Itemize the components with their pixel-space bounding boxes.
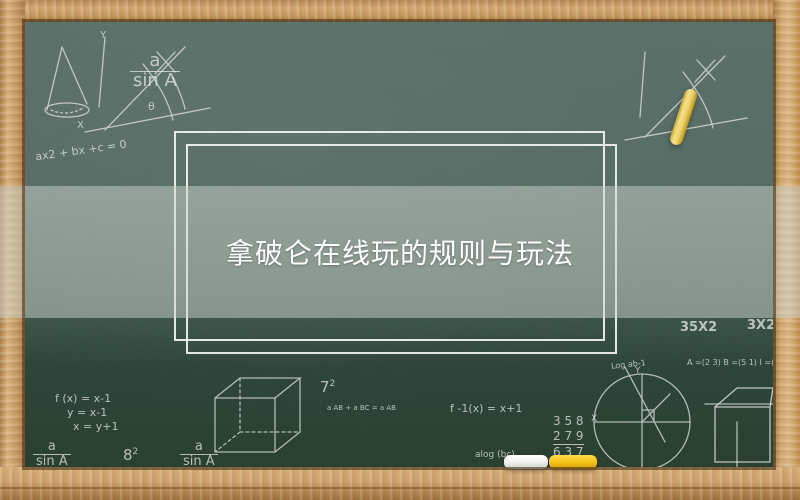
board-inner-bevel (25, 22, 773, 467)
frame-bottom-ledge (0, 467, 800, 500)
frame-top-rail (0, 0, 800, 22)
chalkboard-card: a sin A Y X θ ax2 + bx +c = 0 35X2 3X2 L… (0, 0, 800, 500)
ledge-edge-line (0, 487, 800, 489)
